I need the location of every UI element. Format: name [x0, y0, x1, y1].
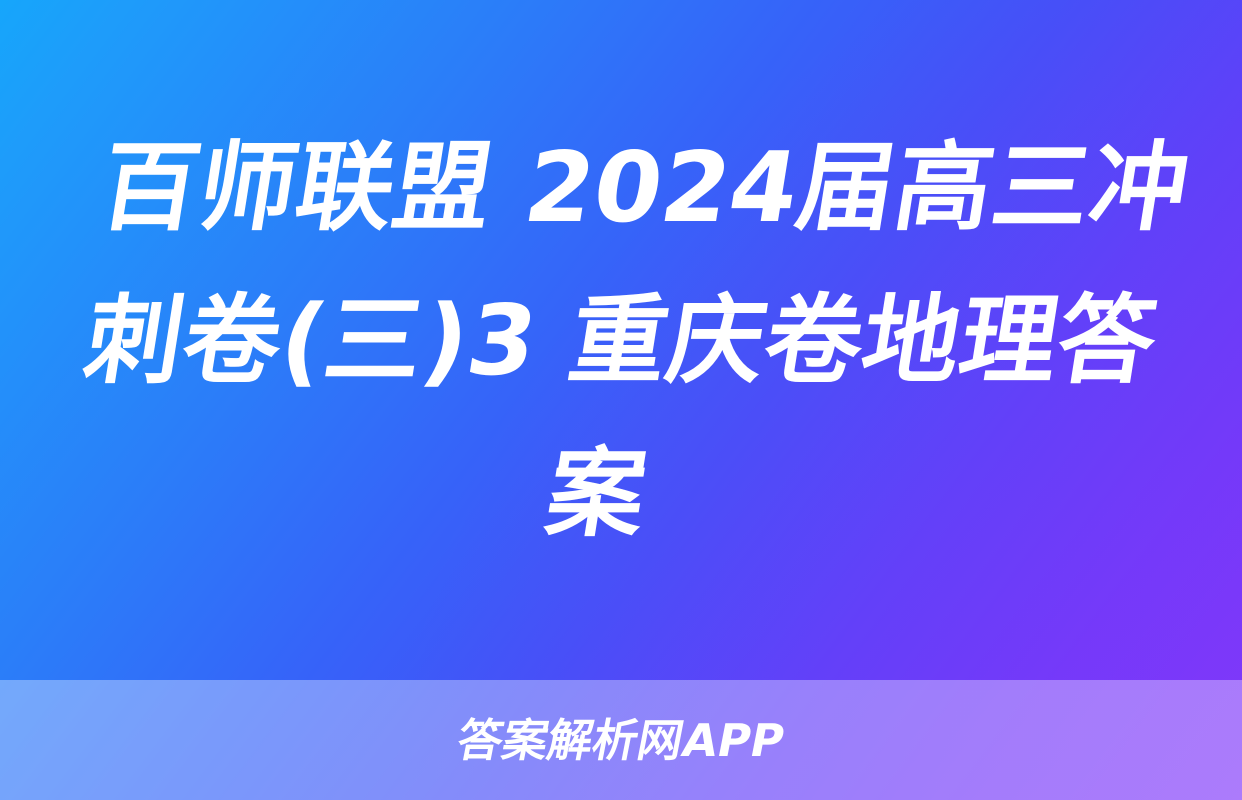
poster-canvas: 百师联盟 2024届高三冲刺卷(三)3 重庆卷地理答案 答案解析网APP — [0, 0, 1242, 800]
title-container: 百师联盟 2024届高三冲刺卷(三)3 重庆卷地理答案 — [0, 0, 1242, 680]
page-title: 百师联盟 2024届高三冲刺卷(三)3 重庆卷地理答案 — [37, 111, 1206, 570]
brand-watermark-label: 答案解析网APP — [454, 718, 789, 763]
footer-watermark-band: 答案解析网APP — [0, 680, 1242, 800]
